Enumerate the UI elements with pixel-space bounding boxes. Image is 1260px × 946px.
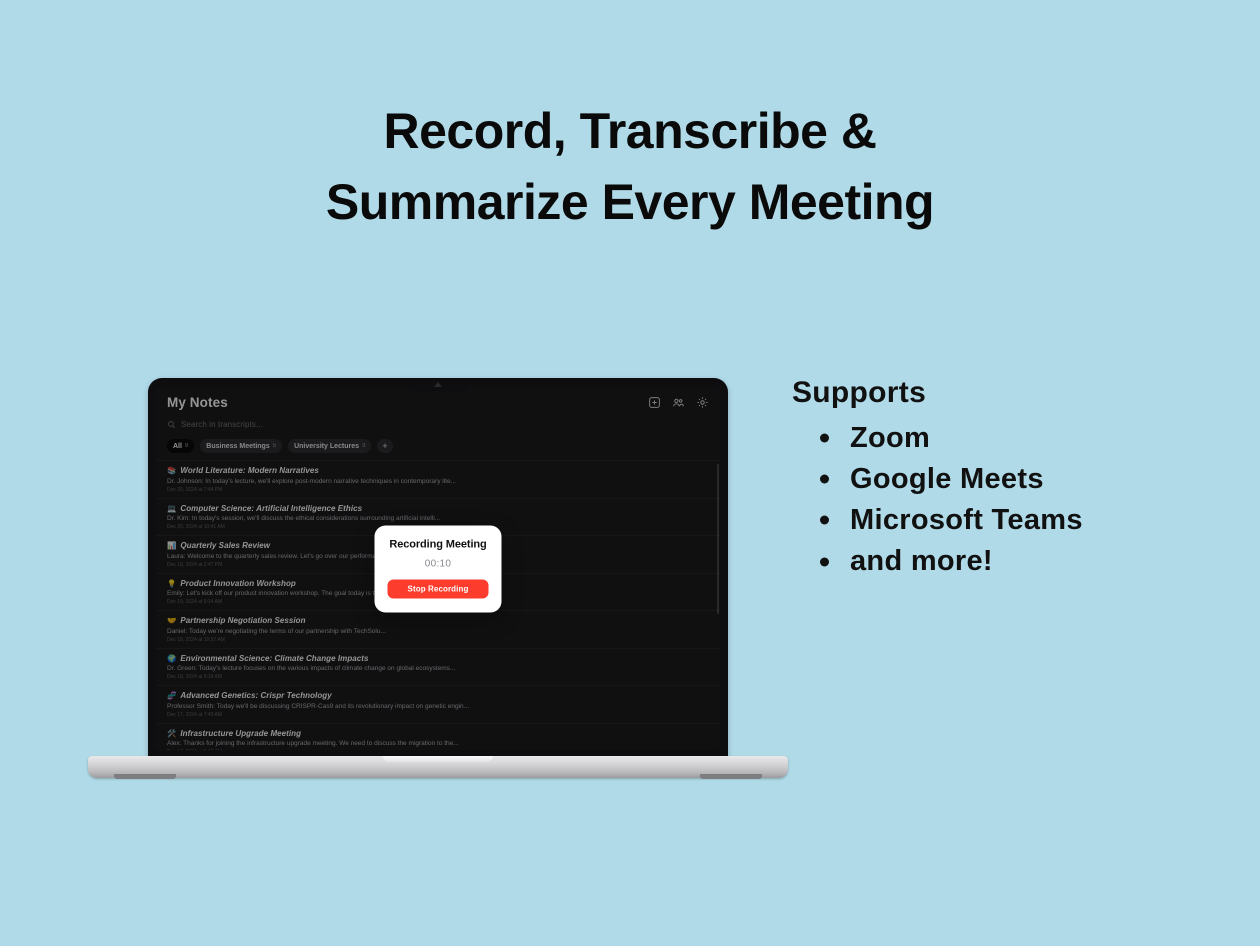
- supports-item-label: and more!: [850, 545, 993, 577]
- note-emoji-icon: 📊: [167, 541, 176, 550]
- supports-item: Zoom: [820, 418, 1192, 459]
- note-list-item[interactable]: 📚 World Literature: Modern Narratives Dr…: [156, 460, 720, 498]
- recording-modal: Recording Meeting 00:10 Stop Recording: [375, 525, 502, 612]
- laptop-feet-group: [88, 774, 788, 780]
- supports-item: and more!: [820, 541, 1192, 582]
- bullet-icon: [820, 516, 829, 525]
- note-emoji-icon: 📚: [167, 466, 176, 475]
- note-date: Dec 20, 2024 at 7:44 PM: [167, 487, 709, 493]
- note-snippet: Alex: Thanks for joining the infrastruct…: [167, 740, 709, 747]
- note-title: Infrastructure Upgrade Meeting: [180, 729, 301, 738]
- supports-item: Microsoft Teams: [820, 500, 1192, 541]
- note-date: Dec 18, 2024 at 9:18 AM: [167, 674, 709, 680]
- note-title: World Literature: Modern Narratives: [180, 466, 319, 475]
- note-snippet: Dr. Johnson: In today's lecture, we'll e…: [167, 478, 709, 485]
- note-title: Product Innovation Workshop: [180, 579, 295, 588]
- search-placeholder: Search in transcripts...: [181, 420, 263, 429]
- note-date: Dec 18, 2024 at 10:57 AM: [167, 637, 709, 643]
- headline-line-1: Record, Transcribe &: [0, 96, 1260, 167]
- note-title-row: 🧬 Advanced Genetics: Crispr Technology: [167, 691, 709, 700]
- bullet-icon: [820, 475, 829, 484]
- note-date: Dec 17, 2024 at 7:49 AM: [167, 712, 709, 718]
- supports-item: Google Meets: [820, 459, 1192, 500]
- laptop-screen: My Notes: [156, 387, 720, 750]
- filter-chip-label: Business Meetings: [206, 443, 269, 450]
- laptop-lid: My Notes: [148, 378, 728, 760]
- bullet-icon: [820, 557, 829, 566]
- page-headline: Record, Transcribe & Summarize Every Mee…: [0, 96, 1260, 238]
- filter-chip-count: 8: [185, 443, 188, 449]
- note-title-row: 📚 World Literature: Modern Narratives: [167, 466, 709, 475]
- bullet-icon: [820, 434, 829, 443]
- note-title: Quarterly Sales Review: [180, 541, 270, 550]
- filter-chip-count: 5: [273, 443, 276, 449]
- search-icon: [167, 420, 176, 429]
- search-row: Search in transcripts...: [156, 414, 720, 436]
- add-note-icon[interactable]: [648, 396, 661, 409]
- note-title-row: 🤝 Partnership Negotiation Session: [167, 616, 709, 625]
- recording-modal-title: Recording Meeting: [388, 538, 489, 550]
- contacts-icon[interactable]: [672, 396, 685, 409]
- filter-chip-label: All: [173, 443, 182, 450]
- note-emoji-icon: 🛠️: [167, 729, 176, 738]
- note-emoji-icon: 💡: [167, 579, 176, 588]
- supports-title: Supports: [792, 374, 1192, 412]
- note-title-row: 🌍 Environmental Science: Climate Change …: [167, 654, 709, 663]
- laptop-foot-left: [114, 774, 176, 779]
- settings-gear-icon[interactable]: [696, 396, 709, 409]
- note-list-item[interactable]: 🌍 Environmental Science: Climate Change …: [156, 648, 720, 686]
- note-emoji-icon: 🌍: [167, 654, 176, 663]
- notes-scrollbar[interactable]: [717, 464, 719, 614]
- filter-chip-all[interactable]: All 8: [167, 439, 194, 453]
- note-title-row: 💻 Computer Science: Artificial Intellige…: [167, 504, 709, 513]
- note-snippet: Dr. Green: Today's lecture focuses on th…: [167, 665, 709, 672]
- supports-item-label: Zoom: [850, 422, 930, 454]
- note-list-item[interactable]: 🛠️ Infrastructure Upgrade Meeting Alex: …: [156, 723, 720, 751]
- app-title: My Notes: [167, 395, 228, 410]
- filter-chip-label: University Lectures: [294, 443, 359, 450]
- laptop-mockup: My Notes: [88, 378, 788, 793]
- note-snippet: Professor Smith: Today we'll be discussi…: [167, 703, 709, 710]
- note-title: Partnership Negotiation Session: [180, 616, 305, 625]
- note-title: Environmental Science: Climate Change Im…: [180, 654, 368, 663]
- add-filter-button[interactable]: +: [377, 439, 392, 453]
- webcam-notch: [406, 378, 470, 391]
- note-title-row: 🛠️ Infrastructure Upgrade Meeting: [167, 729, 709, 738]
- note-emoji-icon: 🧬: [167, 691, 176, 700]
- note-list-item[interactable]: 🧬 Advanced Genetics: Crispr Technology P…: [156, 685, 720, 723]
- note-date: Dec 17, 2024 at 6:33 AM: [167, 749, 709, 750]
- recording-timer: 00:10: [388, 558, 489, 569]
- filter-chip-count: 3: [362, 443, 365, 449]
- note-emoji-icon: 💻: [167, 504, 176, 513]
- note-title: Computer Science: Artificial Intelligenc…: [180, 504, 362, 513]
- search-input[interactable]: Search in transcripts...: [167, 417, 709, 432]
- app-header: My Notes: [156, 387, 720, 414]
- note-snippet: Dr. Kim: In today's session, we'll discu…: [167, 515, 709, 522]
- supports-item-label: Google Meets: [850, 463, 1044, 495]
- note-emoji-icon: 🤝: [167, 616, 176, 625]
- supports-block: Supports Zoom Google Meets Microsoft Tea…: [792, 374, 1192, 582]
- note-list-item[interactable]: 🤝 Partnership Negotiation Session Daniel…: [156, 610, 720, 648]
- stop-recording-button[interactable]: Stop Recording: [388, 579, 489, 598]
- filter-chip-row: All 8 Business Meetings 5 University Lec…: [156, 436, 720, 460]
- laptop-foot-right: [700, 774, 762, 779]
- supports-item-label: Microsoft Teams: [850, 504, 1083, 536]
- note-snippet: Daniel: Today we're negotiating the term…: [167, 628, 709, 635]
- note-title: Advanced Genetics: Crispr Technology: [180, 691, 331, 700]
- supports-list: Zoom Google Meets Microsoft Teams and mo…: [792, 418, 1192, 583]
- filter-chip-business-meetings[interactable]: Business Meetings 5: [200, 439, 282, 453]
- header-icon-group: [648, 396, 709, 409]
- headline-line-2: Summarize Every Meeting: [0, 167, 1260, 238]
- filter-chip-university-lectures[interactable]: University Lectures 3: [288, 439, 371, 453]
